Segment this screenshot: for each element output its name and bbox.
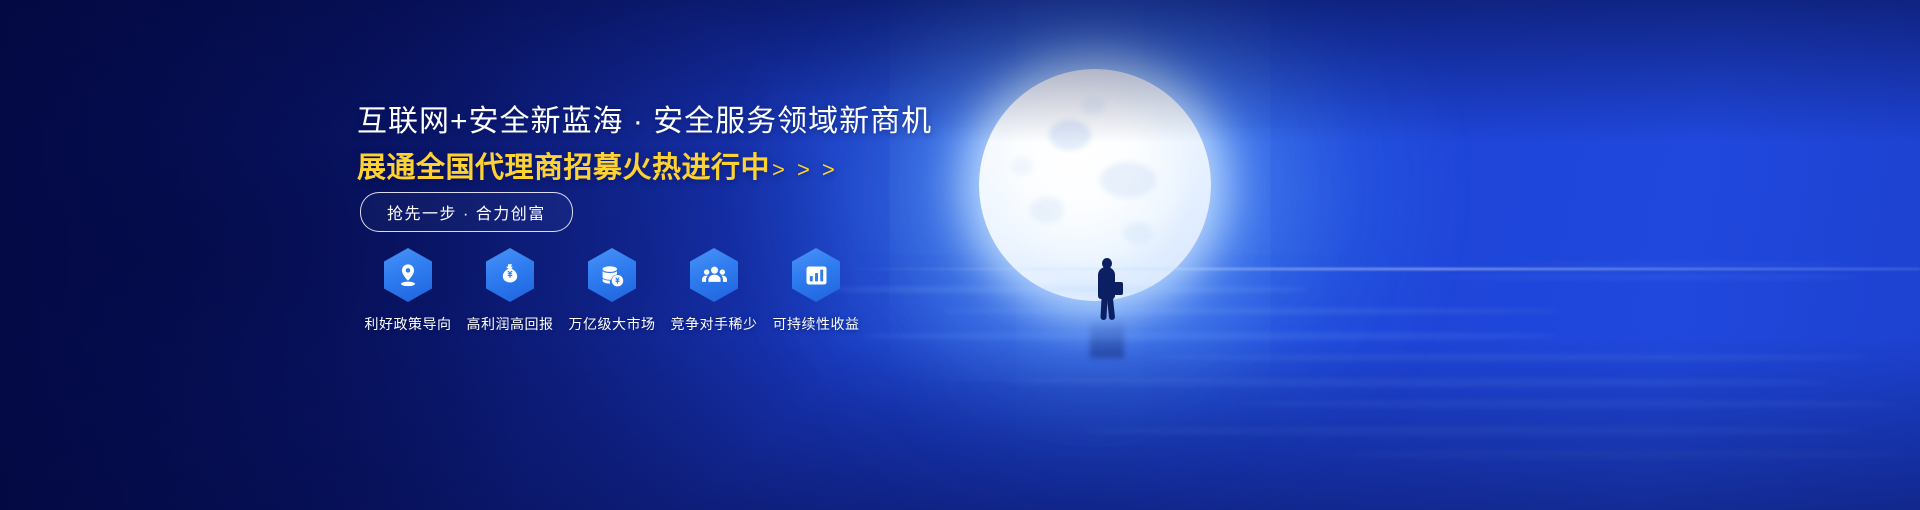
banner-headline: 互联网+安全新蓝海 · 安全服务领域新商机 [357, 96, 932, 140]
feature-label: 可持续性收益 [773, 314, 860, 334]
feature-label: 万亿级大市场 [569, 314, 656, 334]
money-bag-yuan-icon [486, 248, 534, 302]
feature-label: 利好政策导向 [365, 314, 452, 334]
banner-content: 互联网+安全新蓝海 · 安全服务领域新商机 展通全国代理商招募火热进行中> > … [0, 0, 1920, 510]
feature-item-competition[interactable]: 竞争对手稀少 [663, 248, 765, 334]
people-group-icon [690, 248, 738, 302]
feature-label: 高利润高回报 [467, 314, 554, 334]
banner-subheadline: 展通全国代理商招募火热进行中> > > [357, 144, 838, 186]
feature-item-sustainable[interactable]: 可持续性收益 [765, 248, 867, 334]
feature-item-market[interactable]: 万亿级大市场 [561, 248, 663, 334]
bar-chart-growth-icon [792, 248, 840, 302]
feature-item-policy[interactable]: 利好政策导向 [357, 248, 459, 334]
promo-banner: 互联网+安全新蓝海 · 安全服务领域新商机 展通全国代理商招募火热进行中> > … [0, 0, 1920, 510]
subheadline-text: 展通全国代理商招募火热进行中 [357, 152, 770, 184]
coin-stack-yuan-icon [588, 248, 636, 302]
chevron-arrows-icon: > > > [772, 157, 838, 182]
feature-item-profit[interactable]: 高利润高回报 [459, 248, 561, 334]
cta-pill-button[interactable]: 抢先一步 · 合力创富 [360, 192, 573, 232]
feature-list: 利好政策导向 高利润高回报 [357, 248, 867, 334]
feature-label: 竞争对手稀少 [671, 314, 758, 334]
location-pin-person-icon [384, 248, 432, 302]
